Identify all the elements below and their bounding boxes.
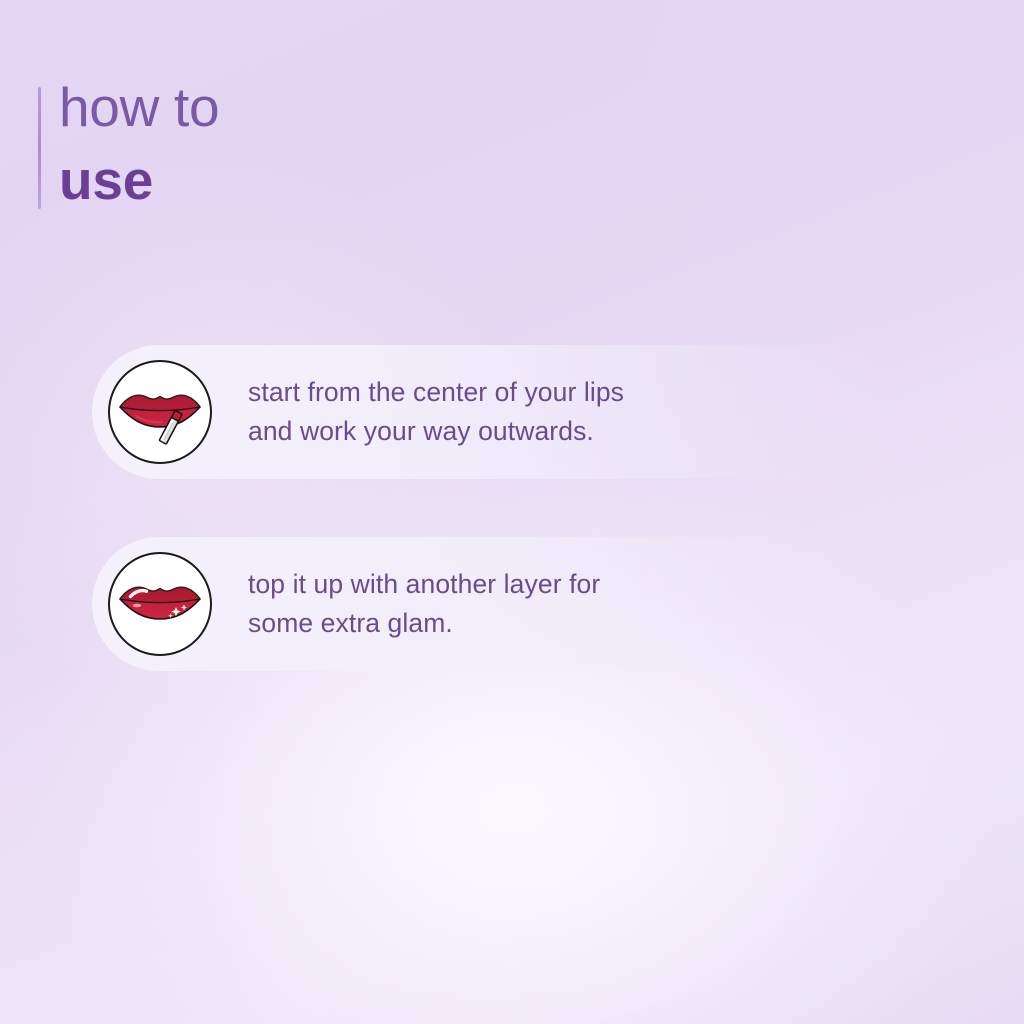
title-text-block: how to use xyxy=(59,80,219,209)
title-line-use: use xyxy=(59,153,219,208)
step-2-text: top it up with another layer for some ex… xyxy=(248,565,600,643)
step-card-2: top it up with another layer for some ex… xyxy=(92,537,892,671)
glossy-lips-sparkle-icon xyxy=(108,552,212,656)
title-accent-rule xyxy=(38,87,41,209)
lips-with-applicator-icon xyxy=(108,360,212,464)
step-card-1: start from the center of your lips and w… xyxy=(92,345,892,479)
page-title: how to use xyxy=(38,80,219,209)
step-1-text: start from the center of your lips and w… xyxy=(248,373,624,451)
poster-canvas: how to use xyxy=(0,0,1024,1024)
title-line-how-to: how to xyxy=(59,80,219,135)
